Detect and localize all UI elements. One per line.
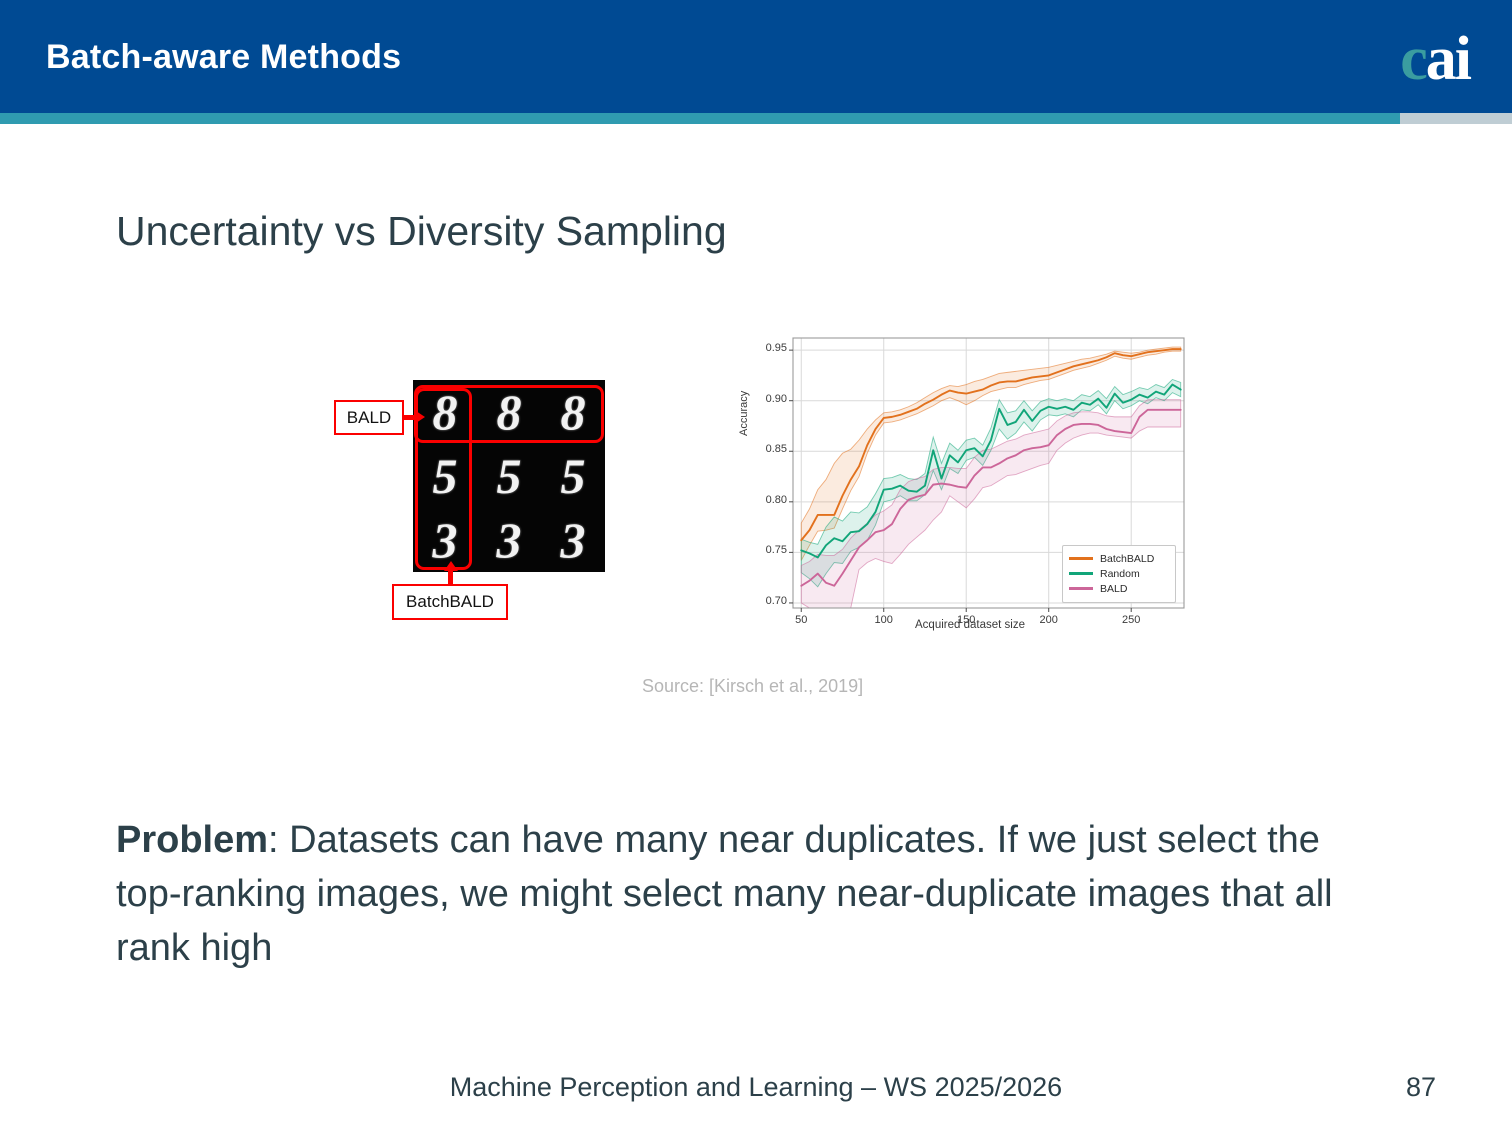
legend-label-random: Random bbox=[1100, 568, 1140, 580]
batchbald-arrow-icon bbox=[448, 570, 453, 585]
accent-bar-teal bbox=[0, 113, 1400, 124]
digit-cell: 3 bbox=[477, 508, 541, 572]
section-heading: Uncertainty vs Diversity Sampling bbox=[116, 208, 727, 255]
accuracy-chart: Accuracy Acquired dataset size 0.700.750… bbox=[740, 330, 1200, 640]
chart-y-tick-label: 0.95 bbox=[743, 342, 787, 354]
logo-ai-letters: ai bbox=[1426, 25, 1470, 93]
digit-cell: 5 bbox=[541, 444, 605, 508]
body-rest-text: : Datasets can have many near duplicates… bbox=[116, 819, 1333, 969]
chart-legend: BatchBALD Random BALD bbox=[1062, 545, 1176, 603]
legend-swatch-random bbox=[1069, 572, 1093, 575]
chart-x-tick-label: 250 bbox=[1111, 614, 1151, 626]
body-paragraph: Problem: Datasets can have many near dup… bbox=[116, 814, 1376, 976]
chart-y-tick-label: 0.70 bbox=[743, 595, 787, 607]
bald-callout-label: BALD bbox=[334, 400, 404, 435]
cai-logo: cai bbox=[1400, 26, 1470, 92]
body-lead-word: Problem bbox=[116, 819, 268, 861]
chart-x-tick-label: 150 bbox=[946, 614, 986, 626]
legend-item: Random bbox=[1069, 566, 1169, 581]
source-caption: Source: [Kirsch et al., 2019] bbox=[642, 676, 863, 697]
digit-cell: 3 bbox=[541, 508, 605, 572]
batchbald-callout-label: BatchBALD bbox=[392, 584, 508, 620]
digit-grid-figure: 8 8 8 5 5 5 3 3 3 BALD BatchBALD bbox=[330, 378, 620, 628]
legend-item: BatchBALD bbox=[1069, 551, 1169, 566]
chart-x-tick-label: 200 bbox=[1029, 614, 1069, 626]
chart-y-tick-label: 0.75 bbox=[743, 544, 787, 556]
chart-y-tick-label: 0.85 bbox=[743, 443, 787, 455]
legend-item: BALD bbox=[1069, 581, 1169, 596]
legend-label-bald: BALD bbox=[1100, 583, 1127, 595]
page-title: Batch-aware Methods bbox=[46, 38, 401, 77]
chart-x-tick-label: 50 bbox=[781, 614, 821, 626]
footer-course-label: Machine Perception and Learning – WS 202… bbox=[0, 1072, 1512, 1103]
logo-c-letter: c bbox=[1400, 25, 1426, 93]
accent-bar-gray bbox=[1400, 113, 1512, 124]
legend-swatch-batchbald bbox=[1069, 557, 1093, 560]
slide: Batch-aware Methods cai Uncertainty vs D… bbox=[0, 0, 1512, 1134]
chart-y-tick-label: 0.90 bbox=[743, 393, 787, 405]
digit-cell: 5 bbox=[477, 444, 541, 508]
chart-x-tick-label: 100 bbox=[864, 614, 904, 626]
legend-label-batchbald: BatchBALD bbox=[1100, 553, 1154, 565]
chart-y-tick-label: 0.80 bbox=[743, 494, 787, 506]
footer-page-number: 87 bbox=[1406, 1072, 1436, 1103]
bald-arrow-icon bbox=[404, 415, 417, 420]
legend-swatch-bald bbox=[1069, 587, 1093, 590]
